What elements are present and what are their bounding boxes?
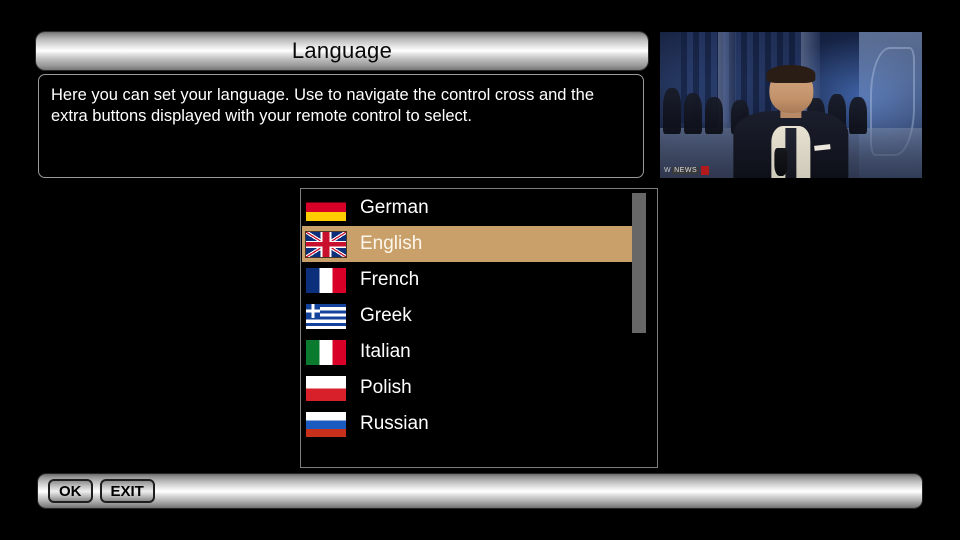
microphone-icon [775,148,788,176]
list-item[interactable]: French [302,262,643,298]
list-item-label: Polish [360,377,412,399]
video-preview[interactable]: W NEWS [660,32,922,178]
flag-russia-icon [306,412,346,437]
list-item-label: Russian [360,413,429,435]
list-item[interactable]: Italian [302,334,643,370]
list-item[interactable]: Polish [302,370,643,406]
list-scrollbar[interactable] [632,193,646,465]
list-item[interactable]: German [302,190,643,226]
list-item-label: Greek [360,305,412,327]
help-text-box: Here you can set your language. Use to n… [38,74,644,178]
tv-osd-screen: Language Here you can set your language.… [0,0,960,540]
flag-france-icon [306,268,346,293]
footer-bar: OK EXIT [38,474,922,508]
flag-poland-icon [306,376,346,401]
channel-logo-text: NEWS [672,167,699,174]
reporter-pocket-square [814,144,831,151]
flag-italy-icon [306,340,346,365]
flag-united-kingdom-icon [306,232,346,257]
list-item[interactable]: Greek [302,298,643,334]
exit-button[interactable]: EXIT [100,479,155,503]
channel-logo: W NEWS [664,166,709,175]
help-text: Here you can set your language. Use to n… [51,85,631,127]
list-item[interactable]: English [302,226,643,262]
flag-greece-icon [306,304,346,329]
list-item-label: English [360,233,422,255]
channel-logo-prefix: W [664,167,670,174]
list-item[interactable]: Russian [302,406,643,442]
title-bar: Language [36,32,648,70]
flag-germany-icon [306,196,346,221]
language-list-panel[interactable]: German English French Greek It [300,188,658,468]
language-list: German English French Greek It [302,190,643,442]
video-reporter [733,70,848,178]
ok-button[interactable]: OK [48,479,93,503]
list-item-label: German [360,197,429,219]
channel-logo-mark [701,166,709,175]
page-title: Language [292,38,392,64]
reporter-hair [767,65,815,83]
list-item-label: Italian [360,341,411,363]
scrollbar-thumb[interactable] [632,193,646,333]
list-item-label: French [360,269,419,291]
